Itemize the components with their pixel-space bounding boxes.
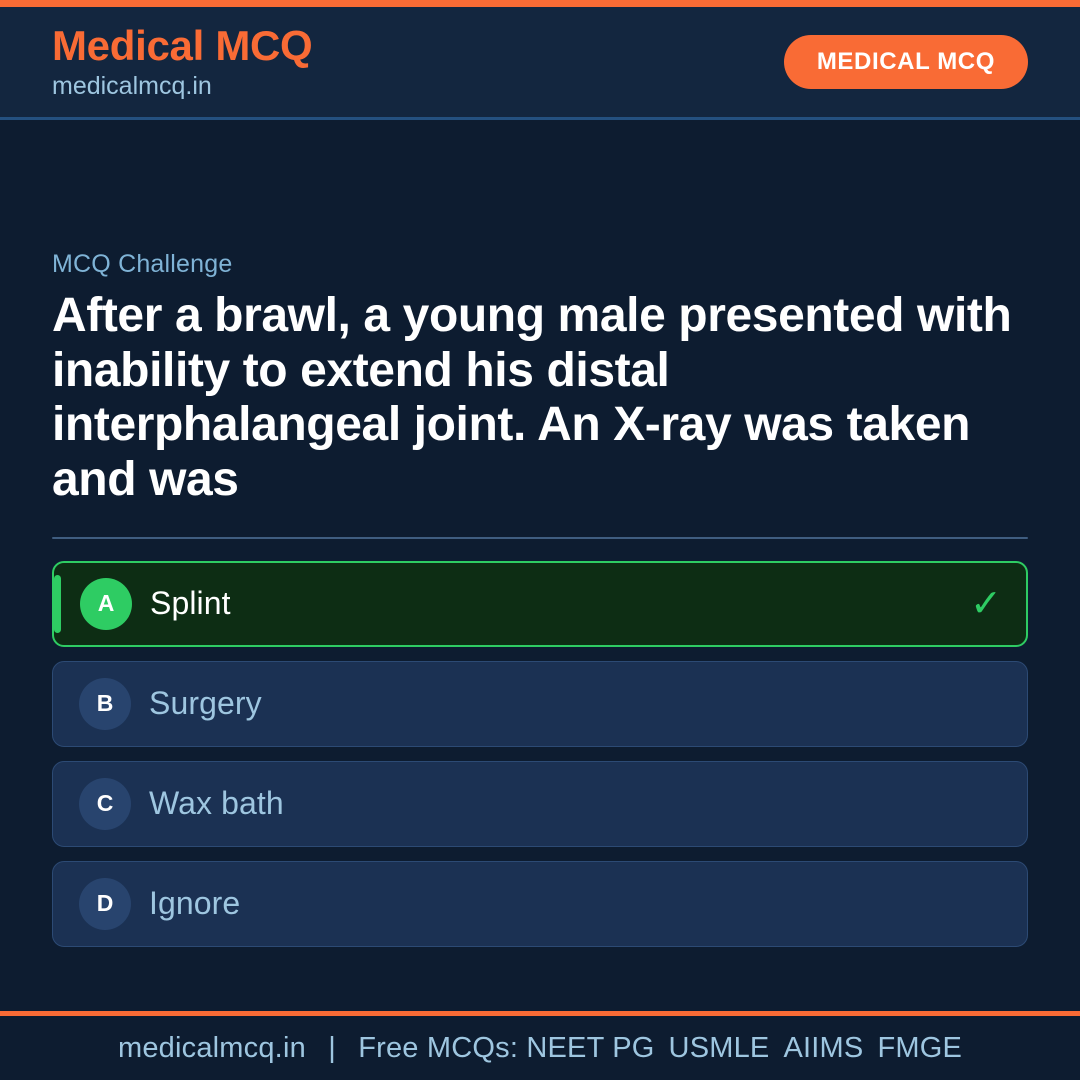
footer-text: medicalmcq.in | Free MCQs: NEET PGUSMLEA…: [118, 1032, 962, 1065]
option-c-text: Wax bath: [149, 785, 284, 822]
option-d[interactable]: D Ignore: [52, 861, 1028, 947]
footer-prefix: Free MCQs:: [358, 1032, 518, 1064]
option-a[interactable]: A Splint ✓: [52, 561, 1028, 647]
options-list: A Splint ✓ B Surgery C Wax bath D Ignore: [52, 561, 1028, 947]
footer-separator: |: [314, 1032, 350, 1064]
footer-bar: medicalmcq.in | Free MCQs: NEET PGUSMLEA…: [0, 1011, 1080, 1080]
section-divider: [52, 537, 1028, 539]
selected-accent-bar: [54, 575, 61, 633]
option-a-text: Splint: [150, 585, 231, 622]
footer-exam-aiims: AIIMS: [783, 1032, 877, 1064]
footer-exam-neetpg: NEET PG: [526, 1032, 668, 1064]
eyebrow-label: MCQ Challenge: [52, 250, 1028, 279]
check-icon: ✓: [970, 585, 1002, 623]
option-d-text: Ignore: [149, 885, 240, 922]
option-c-letter: C: [79, 778, 131, 830]
option-c[interactable]: C Wax bath: [52, 761, 1028, 847]
brand-title: Medical MCQ: [52, 25, 312, 67]
mcq-card: Medical MCQ medicalmcq.in MEDICAL MCQ MC…: [0, 0, 1080, 1080]
brand-domain: medicalmcq.in: [52, 74, 312, 99]
footer-exam-usmle: USMLE: [669, 1032, 784, 1064]
main-content: MCQ Challenge After a brawl, a young mal…: [0, 120, 1080, 1011]
header-bar: Medical MCQ medicalmcq.in MEDICAL MCQ: [0, 7, 1080, 120]
option-a-letter: A: [80, 578, 132, 630]
option-d-letter: D: [79, 878, 131, 930]
question-text: After a brawl, a young male presented wi…: [52, 289, 1028, 508]
option-b-text: Surgery: [149, 685, 262, 722]
option-b-letter: B: [79, 678, 131, 730]
option-b[interactable]: B Surgery: [52, 661, 1028, 747]
header-badge: MEDICAL MCQ: [784, 35, 1028, 89]
footer-exam-list: NEET PGUSMLEAIIMSFMGE: [526, 1032, 962, 1064]
footer-exam-fmge: FMGE: [877, 1032, 962, 1064]
brand-block: Medical MCQ medicalmcq.in: [52, 25, 312, 99]
top-accent-bar: [0, 0, 1080, 7]
footer-site: medicalmcq.in: [118, 1032, 306, 1064]
